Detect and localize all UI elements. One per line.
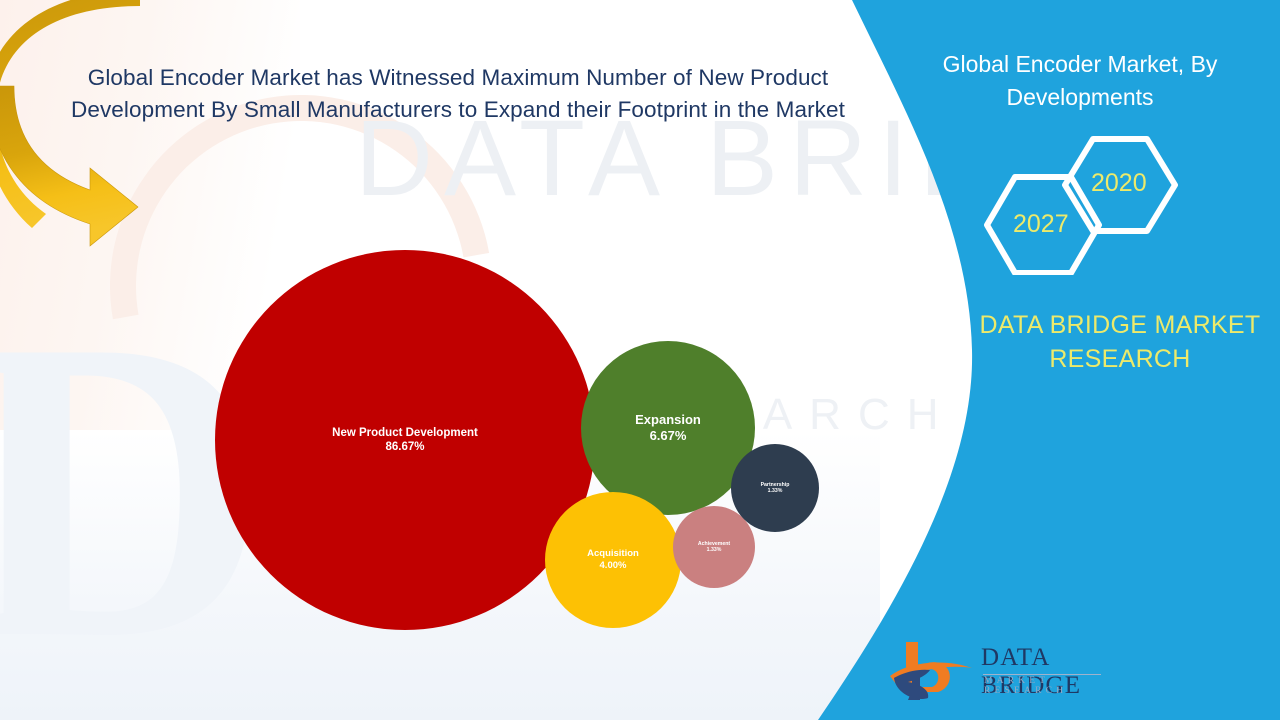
brand-line-1: DATA BRIDGE MARKET bbox=[980, 311, 1261, 339]
brand-text: DATA BRIDGE MARKET RESEARCH bbox=[955, 308, 1280, 376]
bubble-partnership[interactable]: Partnership1.33% bbox=[731, 444, 819, 532]
bubble-expansion[interactable]: Expansion6.67% bbox=[581, 341, 755, 515]
bubble-value: 86.67% bbox=[332, 440, 478, 454]
panel-title: Global Encoder Market, By Developments bbox=[900, 48, 1260, 114]
hexagon-2027-label: 2027 bbox=[1013, 210, 1069, 239]
bubble-new-product-development[interactable]: New Product Development86.67% bbox=[215, 250, 595, 630]
curved-gold-arrow bbox=[0, 0, 170, 267]
logo-divider bbox=[983, 674, 1101, 675]
hexagon-group: 2020 2027 bbox=[975, 135, 1185, 280]
bubble-value: 6.67% bbox=[635, 428, 701, 444]
dbmr-logo-mark bbox=[886, 638, 978, 704]
hexagon-2020-label: 2020 bbox=[1091, 169, 1147, 198]
bubble-label: Expansion bbox=[635, 412, 701, 428]
slide-canvas: D DATA BRIDGE RESEARCH New Product Devel… bbox=[0, 0, 1280, 720]
bubble-acquisition[interactable]: Acquisition4.00% bbox=[545, 492, 681, 628]
bubble-label: Acquisition bbox=[587, 548, 639, 560]
dbmr-logo: DATA BRIDGE MARKET RESEARCH bbox=[886, 638, 1101, 710]
bubble-value: 1.33% bbox=[761, 488, 790, 495]
brand-line-2: RESEARCH bbox=[1049, 345, 1190, 373]
bubble-value: 1.33% bbox=[698, 547, 730, 554]
bubble-value: 4.00% bbox=[587, 560, 639, 572]
slide-title: Global Encoder Market has Witnessed Maxi… bbox=[48, 62, 868, 126]
logo-subtitle: MARKET RESEARCH bbox=[984, 676, 1101, 696]
bubble-label: New Product Development bbox=[332, 426, 478, 440]
